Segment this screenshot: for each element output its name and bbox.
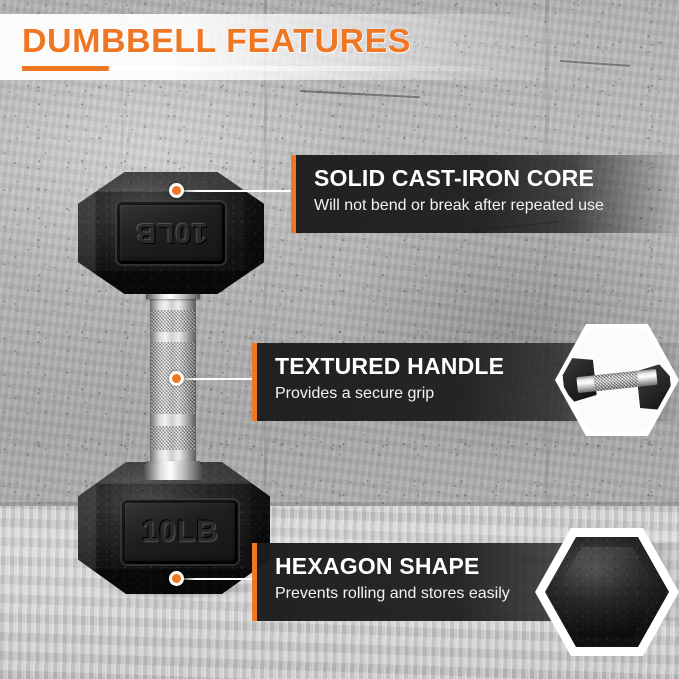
marker-dot-core (169, 183, 184, 198)
callout-subtitle: Will not bend or break after repeated us… (314, 197, 679, 215)
connector-line-core (176, 190, 296, 192)
weight-plate-top: 10LB (117, 202, 225, 264)
callout-title: SOLID CAST-IRON CORE (314, 166, 679, 191)
page-title: DUMBBELL FEATURES (22, 22, 411, 60)
marker-dot-hexagon (169, 571, 184, 586)
title-underline (22, 66, 679, 71)
connector-line-hexagon (182, 578, 260, 580)
knurl-band (151, 310, 195, 332)
knurl-band (151, 426, 195, 450)
weight-label-top: 10LB (135, 217, 207, 249)
weight-label-bottom: 10LB (141, 515, 218, 549)
callout-solid-cast-iron-core[interactable]: SOLID CAST-IRON CORE Will not bend or br… (291, 155, 679, 233)
infographic-canvas: DUMBBELL FEATURES 10LB 10LB (0, 0, 679, 679)
inset-knurl-texture (593, 371, 638, 392)
connector-line-handle (182, 378, 260, 380)
marker-dot-handle (169, 371, 184, 386)
handle-collar-bottom (144, 464, 202, 480)
weight-plate-bottom: 10LB (122, 500, 238, 564)
